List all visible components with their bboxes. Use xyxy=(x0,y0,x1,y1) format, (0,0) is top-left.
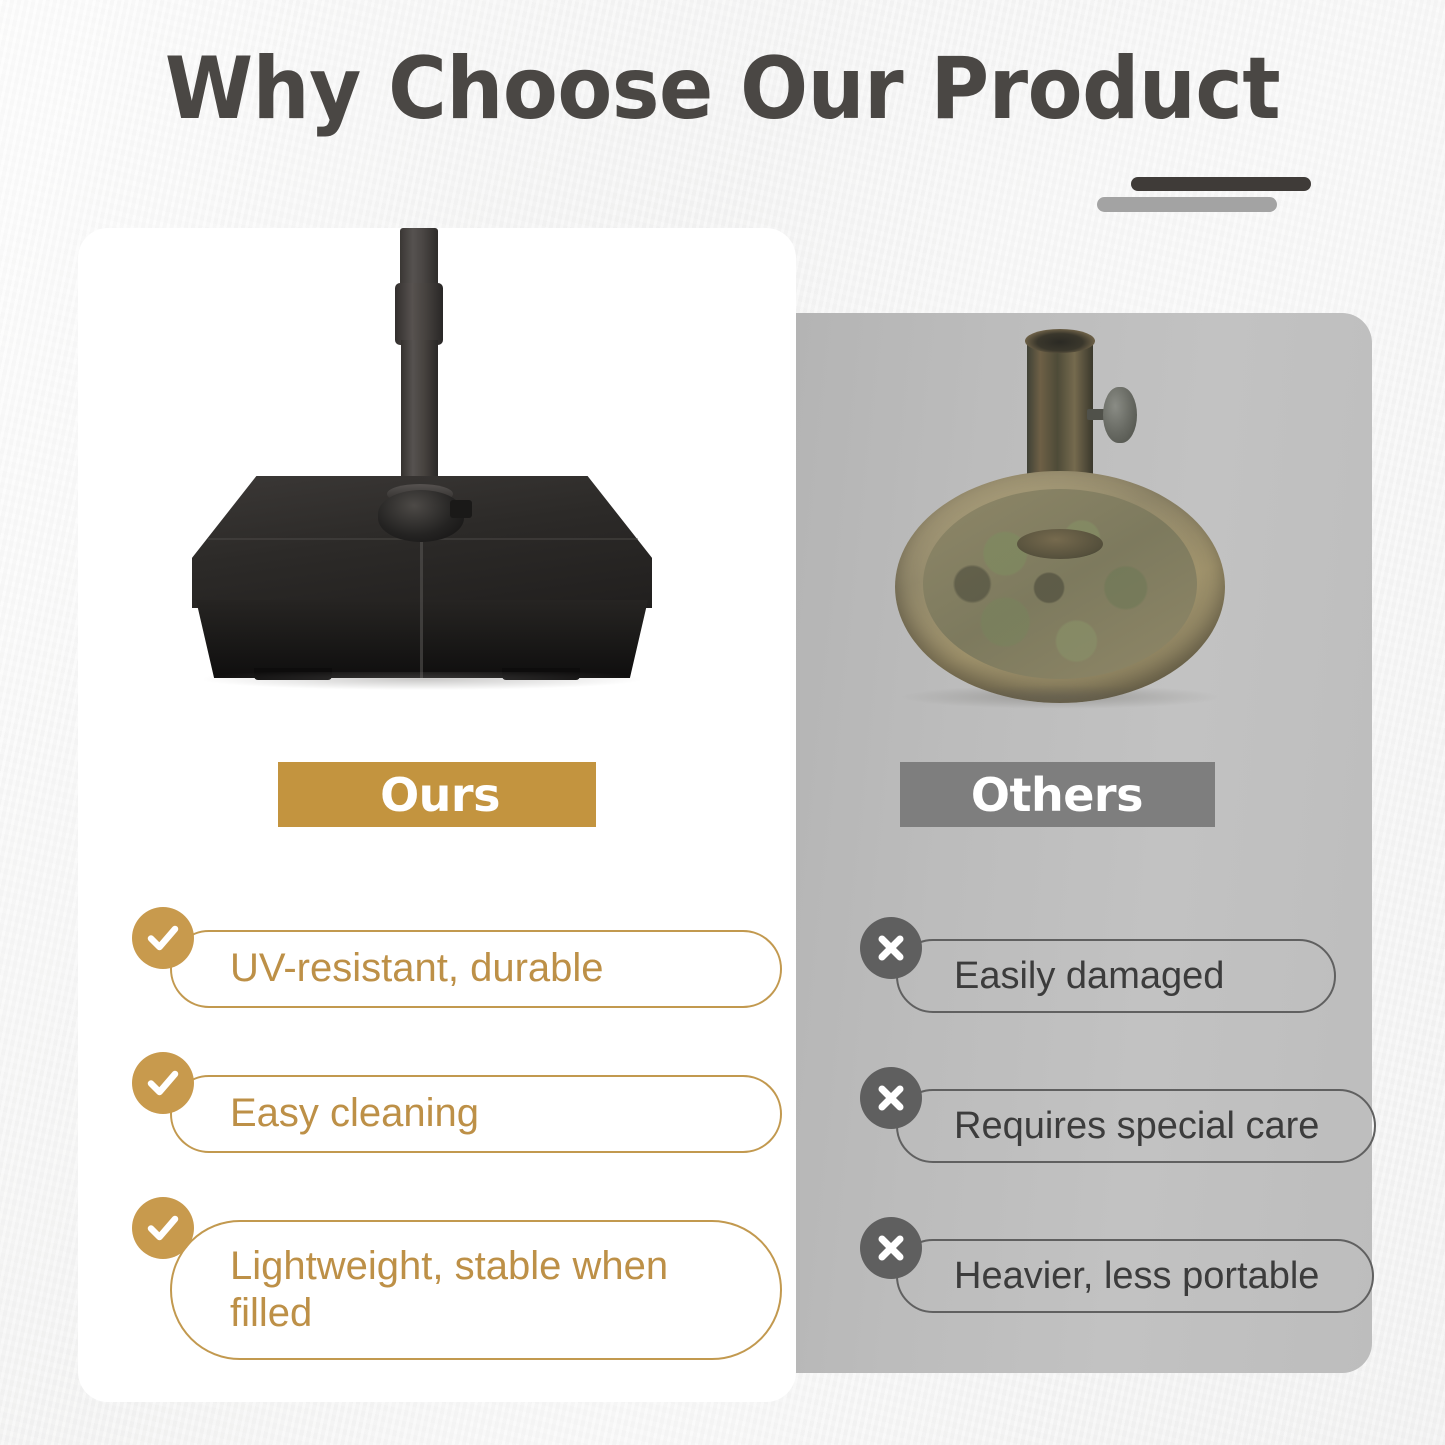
header-rule-light xyxy=(1097,197,1277,212)
ours-feature-pill: UV-resistant, durable xyxy=(170,930,782,1008)
ours-feature-label: UV-resistant, durable xyxy=(230,945,604,992)
pole-hub-knob xyxy=(450,500,472,518)
resin-base-seam-vertical xyxy=(420,528,423,678)
others-feature-label: Easily damaged xyxy=(954,954,1224,999)
others-drop-shadow xyxy=(899,685,1221,709)
umbrella-pole-collar xyxy=(395,283,443,345)
ours-feature-label: Lightweight, stable when filled xyxy=(230,1243,758,1337)
cross-icon xyxy=(860,1067,922,1129)
cast-iron-knob xyxy=(1103,387,1137,443)
page-title: Why Choose Our Product xyxy=(51,46,1395,132)
ours-feature-pill: Easy cleaning xyxy=(170,1075,782,1153)
others-product-image xyxy=(795,313,1372,733)
others-feature-label: Heavier, less portable xyxy=(954,1254,1319,1299)
check-icon xyxy=(132,1052,194,1114)
cast-iron-tube-rim xyxy=(1025,329,1095,353)
cross-icon xyxy=(860,917,922,979)
tag-others: Others xyxy=(900,762,1215,827)
check-icon xyxy=(132,1197,194,1259)
infographic-canvas: Why Choose Our Product Ours Others xyxy=(0,0,1445,1445)
others-feature-label: Requires special care xyxy=(954,1104,1319,1149)
ours-drop-shadow xyxy=(204,672,640,690)
ours-feature-label: Easy cleaning xyxy=(230,1090,479,1137)
tag-ours: Ours xyxy=(278,762,596,827)
tag-others-label: Others xyxy=(971,768,1143,822)
cast-iron-hub-collar xyxy=(1017,529,1103,559)
tag-ours-label: Ours xyxy=(380,768,500,822)
ours-feature-pill: Lightweight, stable when filled xyxy=(170,1220,782,1360)
others-feature-pill: Easily damaged xyxy=(896,939,1336,1013)
cast-iron-floral-pattern xyxy=(923,489,1197,679)
cross-icon xyxy=(860,1217,922,1279)
header-rule-dark xyxy=(1131,177,1311,191)
umbrella-pole-upper xyxy=(400,228,438,288)
others-feature-pill: Requires special care xyxy=(896,1089,1376,1163)
ours-product-image xyxy=(78,228,796,698)
others-feature-pill: Heavier, less portable xyxy=(896,1239,1374,1313)
check-icon xyxy=(132,907,194,969)
